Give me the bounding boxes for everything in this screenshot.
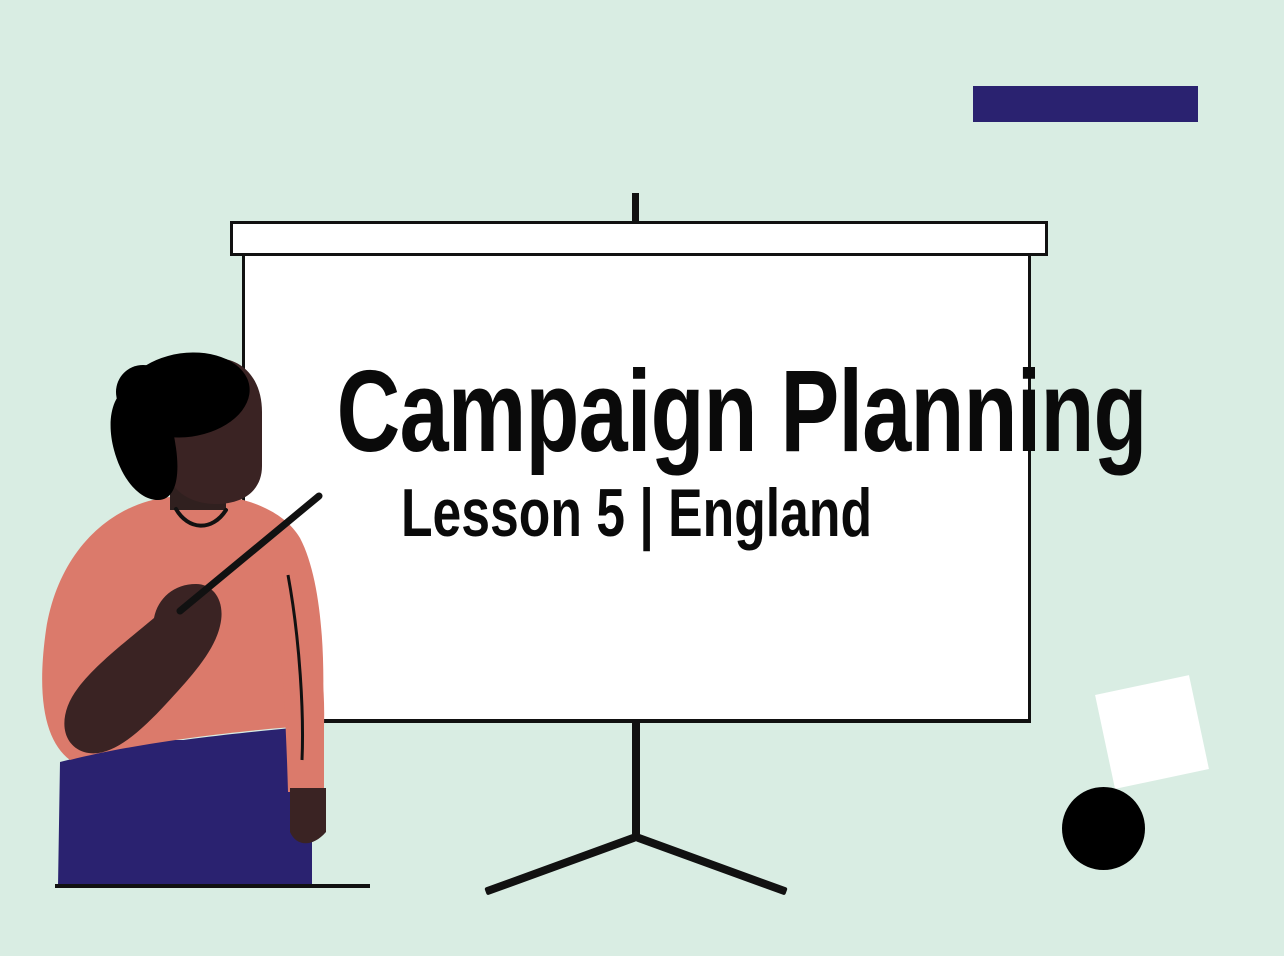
black-circle-decoration [1062,787,1145,870]
hair-bun [116,365,170,419]
right-hand [290,788,326,843]
slide-canvas: Campaign Planning Lesson 5 | England [0,0,1284,956]
ground-line [55,884,370,888]
white-square-decoration [1095,675,1209,789]
